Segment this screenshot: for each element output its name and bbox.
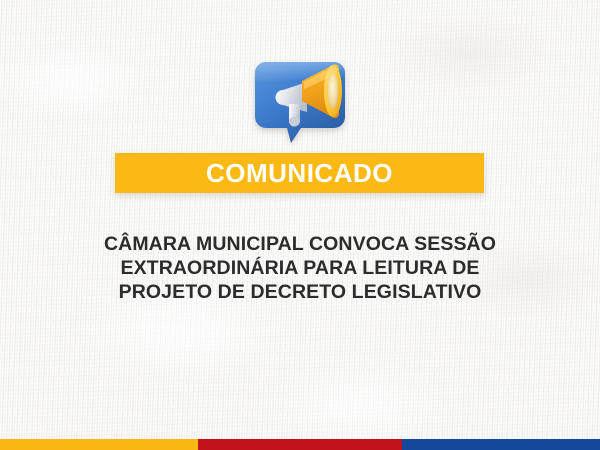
headline-line-1: CÂMARA MUNICIPAL CONVOCA SESSÃO: [30, 232, 570, 256]
headline-line-3: PROJETO DE DECRETO LEGISLATIVO: [30, 280, 570, 304]
bottom-color-bar: [0, 439, 600, 450]
announcement-poster: COMUNICADO CÂMARA MUNICIPAL CONVOCA SESS…: [0, 0, 600, 450]
page-title: CÂMARA MUNICIPAL CONVOCA SESSÃO EXTRAORD…: [30, 232, 570, 304]
color-bar-segment-red: [198, 439, 402, 450]
color-bar-segment-blue: [402, 439, 600, 450]
megaphone-speech-bubble-icon: [245, 52, 355, 146]
comunicado-banner: COMUNICADO: [115, 153, 484, 193]
color-bar-segment-yellow: [0, 439, 198, 450]
emblem-container: [0, 52, 600, 146]
banner-label: COMUNICADO: [206, 160, 393, 186]
headline-line-2: EXTRAORDINÁRIA PARA LEITURA DE: [30, 256, 570, 280]
